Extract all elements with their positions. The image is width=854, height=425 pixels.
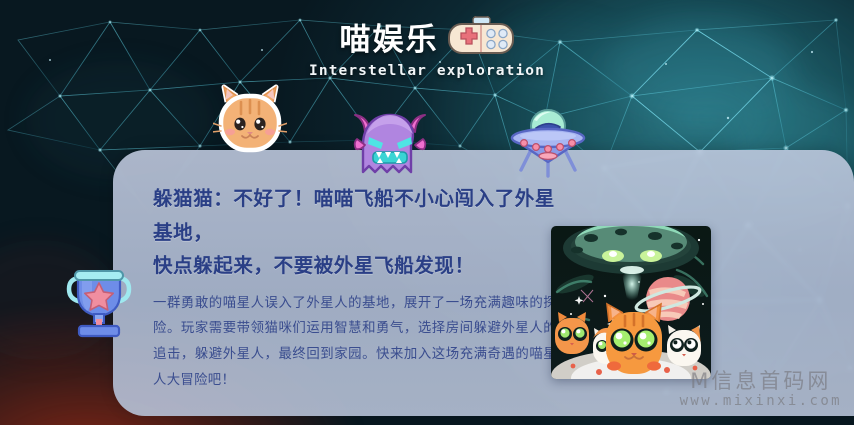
- trophy-sticker: [66, 262, 132, 338]
- game-artwork-illustration: [551, 226, 711, 379]
- game-artwork-thumbnail[interactable]: [551, 226, 711, 379]
- screenshot-stage: 喵娱乐 Interstellar exploration: [0, 0, 854, 425]
- cat-face-sticker: [213, 82, 287, 156]
- alien-monster-sticker: [352, 112, 428, 182]
- game-description: 一群勇敢的喵星人误入了外星人的基地，展开了一场充满趣味的探险。玩家需要带领猫咪们…: [153, 291, 557, 394]
- ufo-sticker: [506, 106, 590, 178]
- game-headline: 躲猫猫：不好了！喵喵飞船不小心闯入了外星基地， 快点躲起来，不要被外星飞船发现！: [153, 182, 573, 283]
- content-panel: 躲猫猫：不好了！喵喵飞船不小心闯入了外星基地， 快点躲起来，不要被外星飞船发现！…: [113, 150, 854, 416]
- panel-copy: 躲猫猫：不好了！喵喵飞船不小心闯入了外星基地， 快点躲起来，不要被外星飞船发现！…: [153, 182, 573, 394]
